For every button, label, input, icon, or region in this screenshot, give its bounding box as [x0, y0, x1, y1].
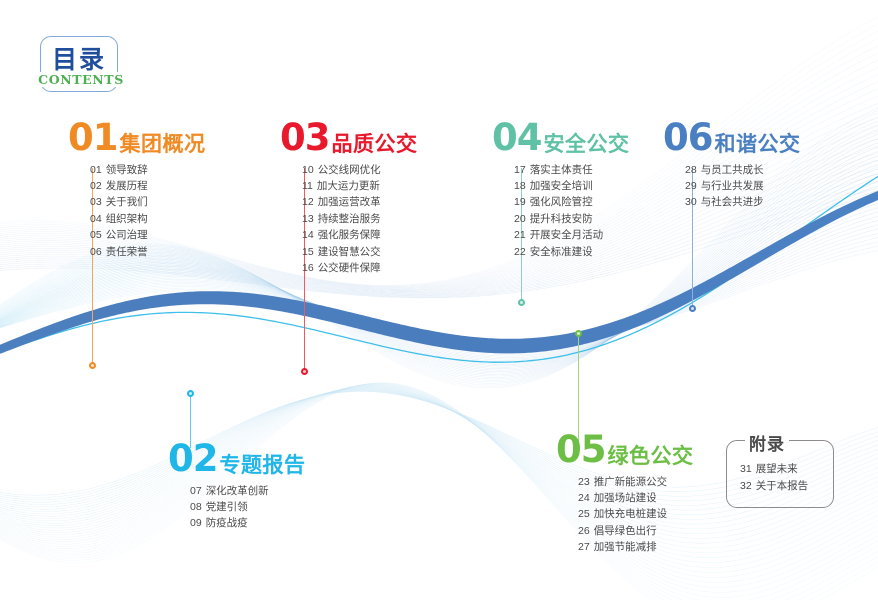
item-number: 05	[90, 229, 102, 241]
section-03-number: 03	[280, 122, 330, 155]
item-number: 28	[685, 164, 697, 176]
list-item[interactable]: 29与行业共发展	[685, 178, 801, 194]
section-03[interactable]: 03 品质公交 10公交线网优化 11加大运力更新 12加强运营改革 13持续整…	[280, 122, 418, 276]
item-number: 29	[685, 180, 697, 192]
list-item[interactable]: 18加强安全培训	[514, 178, 630, 194]
list-item[interactable]: 31展望未来	[740, 461, 808, 478]
item-label: 加大运力更新	[317, 180, 380, 192]
item-number: 12	[302, 196, 314, 208]
list-item[interactable]: 07深化改革创新	[190, 483, 306, 499]
list-item[interactable]: 09防疫战疫	[190, 515, 306, 531]
list-item[interactable]: 06责任荣誉	[90, 244, 206, 260]
list-item[interactable]: 15建设智慧公交	[302, 244, 418, 260]
item-number: 25	[578, 508, 590, 520]
item-number: 09	[190, 517, 202, 529]
list-item[interactable]: 20提升科技安防	[514, 211, 630, 227]
section-06-title: 和谐公交	[715, 133, 801, 155]
list-item[interactable]: 25加快充电桩建设	[578, 506, 694, 522]
item-number: 23	[578, 476, 590, 488]
connector-dot-01	[89, 362, 96, 369]
section-01-title: 集团概况	[120, 133, 206, 155]
list-item[interactable]: 13持续整治服务	[302, 211, 418, 227]
list-item[interactable]: 19强化风险管控	[514, 194, 630, 210]
item-number: 27	[578, 541, 590, 553]
item-number: 21	[514, 229, 526, 241]
contents-title-cn: 目录	[40, 40, 118, 76]
section-01[interactable]: 01 集团概况 01领导致辞 02发展历程 03关于我们 04组织架构 05公司…	[68, 122, 206, 260]
item-number: 08	[190, 501, 202, 513]
section-04[interactable]: 04 安全公交 17落实主体责任 18加强安全培训 19强化风险管控 20提升科…	[492, 122, 630, 260]
connector-dot-02	[187, 390, 194, 397]
list-item[interactable]: 16公交硬件保障	[302, 260, 418, 276]
section-04-number: 04	[492, 122, 542, 155]
item-label: 关于我们	[106, 196, 148, 208]
item-number: 15	[302, 246, 314, 258]
connector-dot-05	[575, 330, 582, 337]
wave-background-graphic	[0, 0, 878, 600]
list-item[interactable]: 03关于我们	[90, 194, 206, 210]
appendix-items: 31展望未来 32关于本报告	[740, 461, 808, 495]
item-label: 持续整治服务	[318, 213, 381, 225]
item-number: 17	[514, 164, 526, 176]
section-04-items: 17落实主体责任 18加强安全培训 19强化风险管控 20提升科技安防 21开展…	[492, 162, 630, 260]
appendix-title: 附录	[745, 430, 789, 455]
item-label: 与社会共进步	[701, 196, 764, 208]
item-number: 16	[302, 262, 314, 274]
item-label: 责任荣誉	[106, 246, 148, 258]
item-label: 落实主体责任	[530, 164, 593, 176]
section-04-title: 安全公交	[544, 133, 630, 155]
item-label: 公交硬件保障	[318, 262, 381, 274]
section-03-title: 品质公交	[332, 133, 418, 155]
list-item[interactable]: 04组织架构	[90, 211, 206, 227]
item-number: 14	[302, 229, 314, 241]
list-item[interactable]: 08党建引领	[190, 499, 306, 515]
section-05[interactable]: 05 绿色公交 23推广新能源公交 24加强场站建设 25加快充电桩建设 26倡…	[556, 434, 694, 556]
section-02[interactable]: 02 专题报告 07深化改革创新 08党建引领 09防疫战疫	[168, 443, 306, 532]
section-06-items: 28与员工共成长 29与行业共发展 30与社会共进步	[663, 162, 801, 211]
item-number: 30	[685, 196, 697, 208]
toc-page: 目录 CONTENTS 01 集团概况 01领导致辞 02发展历程 03关于我们…	[0, 0, 878, 600]
item-label: 加强安全培训	[530, 180, 593, 192]
contents-title-en: CONTENTS	[30, 72, 132, 87]
item-label: 安全标准建设	[530, 246, 593, 258]
item-number: 22	[514, 246, 526, 258]
section-05-title: 绿色公交	[608, 445, 694, 467]
item-number: 32	[740, 480, 752, 492]
item-label: 强化风险管控	[530, 196, 593, 208]
list-item[interactable]: 32关于本报告	[740, 478, 808, 495]
list-item[interactable]: 22安全标准建设	[514, 244, 630, 260]
item-label: 加快充电桩建设	[594, 508, 668, 520]
item-number: 13	[302, 213, 314, 225]
list-item[interactable]: 27加强节能减排	[578, 539, 694, 555]
list-item[interactable]: 24加强场站建设	[578, 490, 694, 506]
item-label: 加强运营改革	[318, 196, 381, 208]
item-number: 04	[90, 213, 102, 225]
item-label: 发展历程	[106, 180, 148, 192]
connector-dot-04	[518, 299, 525, 306]
item-label: 公交线网优化	[318, 164, 381, 176]
list-item[interactable]: 23推广新能源公交	[578, 474, 694, 490]
item-label: 组织架构	[106, 213, 148, 225]
section-03-items: 10公交线网优化 11加大运力更新 12加强运营改革 13持续整治服务 14强化…	[280, 162, 418, 277]
section-02-title: 专题报告	[220, 454, 306, 476]
item-label: 倡导绿色出行	[594, 525, 657, 537]
list-item[interactable]: 12加强运营改革	[302, 194, 418, 210]
list-item[interactable]: 05公司治理	[90, 227, 206, 243]
section-04-header: 04 安全公交	[492, 122, 630, 155]
item-number: 24	[578, 492, 590, 504]
item-number: 03	[90, 196, 102, 208]
item-label: 加强场站建设	[594, 492, 657, 504]
list-item[interactable]: 26倡导绿色出行	[578, 523, 694, 539]
section-06[interactable]: 06 和谐公交 28与员工共成长 29与行业共发展 30与社会共进步	[663, 122, 801, 211]
section-03-header: 03 品质公交	[280, 122, 418, 155]
section-02-items: 07深化改革创新 08党建引领 09防疫战疫	[168, 483, 306, 532]
item-label: 领导致辞	[106, 164, 148, 176]
item-label: 展望未来	[756, 463, 798, 475]
connector-dot-06	[689, 305, 696, 312]
item-number: 11	[302, 180, 313, 192]
item-label: 强化服务保障	[318, 229, 381, 241]
item-number: 31	[740, 463, 752, 475]
section-05-header: 05 绿色公交	[556, 434, 694, 467]
section-01-number: 01	[68, 122, 118, 155]
item-label: 开展安全月活动	[530, 229, 604, 241]
item-number: 26	[578, 525, 590, 537]
item-label: 关于本报告	[756, 480, 809, 492]
item-label: 与员工共成长	[701, 164, 764, 176]
item-label: 深化改革创新	[206, 485, 269, 497]
item-number: 20	[514, 213, 526, 225]
item-label: 党建引领	[206, 501, 248, 513]
list-item[interactable]: 11加大运力更新	[302, 178, 418, 194]
connector-rule-05	[578, 333, 579, 441]
item-label: 加强节能减排	[594, 541, 657, 553]
section-02-number: 02	[168, 443, 218, 476]
item-label: 建设智慧公交	[318, 246, 381, 258]
list-item[interactable]: 17落实主体责任	[514, 162, 630, 178]
item-label: 防疫战疫	[206, 517, 248, 529]
item-number: 07	[190, 485, 202, 497]
list-item[interactable]: 30与社会共进步	[685, 194, 801, 210]
item-number: 10	[302, 164, 314, 176]
item-number: 06	[90, 246, 102, 258]
section-05-items: 23推广新能源公交 24加强场站建设 25加快充电桩建设 26倡导绿色出行 27…	[556, 474, 694, 556]
item-number: 01	[90, 164, 102, 176]
item-label: 提升科技安防	[530, 213, 593, 225]
item-label: 公司治理	[106, 229, 148, 241]
section-06-number: 06	[663, 122, 713, 155]
section-06-header: 06 和谐公交	[663, 122, 801, 155]
item-label: 推广新能源公交	[594, 476, 668, 488]
list-item[interactable]: 10公交线网优化	[302, 162, 418, 178]
section-05-number: 05	[556, 434, 606, 467]
list-item[interactable]: 14强化服务保障	[302, 227, 418, 243]
list-item[interactable]: 01领导致辞	[90, 162, 206, 178]
list-item[interactable]: 21开展安全月活动	[514, 227, 630, 243]
connector-dot-03	[301, 368, 308, 375]
list-item[interactable]: 02发展历程	[90, 178, 206, 194]
list-item[interactable]: 28与员工共成长	[685, 162, 801, 178]
section-01-header: 01 集团概况	[68, 122, 206, 155]
section-01-items: 01领导致辞 02发展历程 03关于我们 04组织架构 05公司治理 06责任荣…	[68, 162, 206, 260]
item-label: 与行业共发展	[701, 180, 764, 192]
item-number: 02	[90, 180, 102, 192]
item-number: 18	[514, 180, 526, 192]
section-02-header: 02 专题报告	[168, 443, 306, 476]
item-number: 19	[514, 196, 526, 208]
